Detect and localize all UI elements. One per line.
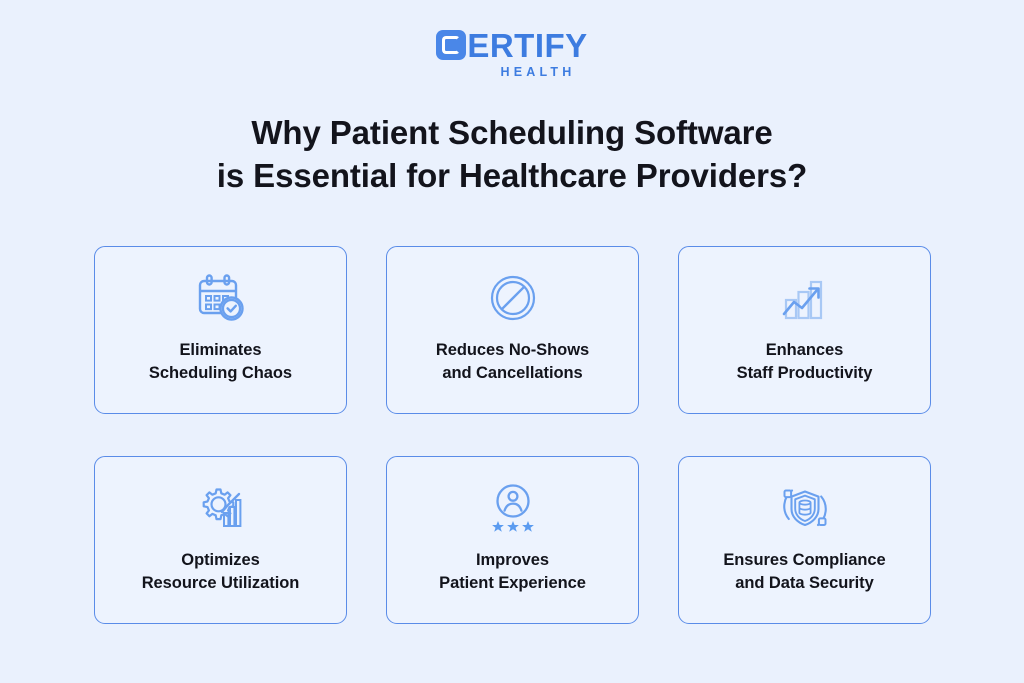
benefit-card-label: Eliminates Scheduling Chaos [149, 339, 292, 386]
benefit-card-label: Enhances Staff Productivity [737, 339, 873, 386]
benefit-card[interactable]: Improves Patient Experience [386, 456, 639, 624]
benefit-card[interactable]: Ensures Compliance and Data Security [678, 456, 931, 624]
logo-row: ERTIFY [436, 28, 587, 62]
benefit-card-label: Improves Patient Experience [439, 549, 586, 596]
user-three-stars-icon [487, 481, 539, 535]
gear-bar-chart-icon [195, 481, 247, 535]
page-title-line-1: Why Patient Scheduling Software [0, 112, 1024, 155]
prohibited-sign-icon [488, 271, 538, 325]
benefit-card-grid: Eliminates Scheduling Chaos Reduces No-S… [94, 246, 932, 624]
calendar-check-icon [195, 271, 247, 325]
brand-logo: ERTIFY HEALTH [0, 28, 1024, 79]
benefit-card[interactable]: Reduces No-Shows and Cancellations [386, 246, 639, 414]
logo-wordmark: ERTIFY [467, 29, 587, 62]
benefit-card[interactable]: Enhances Staff Productivity [678, 246, 931, 414]
benefit-card[interactable]: Eliminates Scheduling Chaos [94, 246, 347, 414]
logo-subtext: HEALTH [501, 65, 576, 79]
benefit-card[interactable]: Optimizes Resource Utilization [94, 456, 347, 624]
certify-c-mark-icon [436, 30, 466, 60]
benefit-card-label: Reduces No-Shows and Cancellations [436, 339, 589, 386]
page-title: Why Patient Scheduling Software is Essen… [0, 112, 1024, 198]
shield-database-icon [779, 481, 831, 535]
page-title-line-2: is Essential for Healthcare Providers? [0, 155, 1024, 198]
infographic-page: ERTIFY HEALTH Why Patient Scheduling Sof… [0, 0, 1024, 683]
bar-chart-growth-arrow-icon [779, 271, 831, 325]
benefit-card-label: Ensures Compliance and Data Security [723, 549, 885, 596]
benefit-card-label: Optimizes Resource Utilization [142, 549, 300, 596]
